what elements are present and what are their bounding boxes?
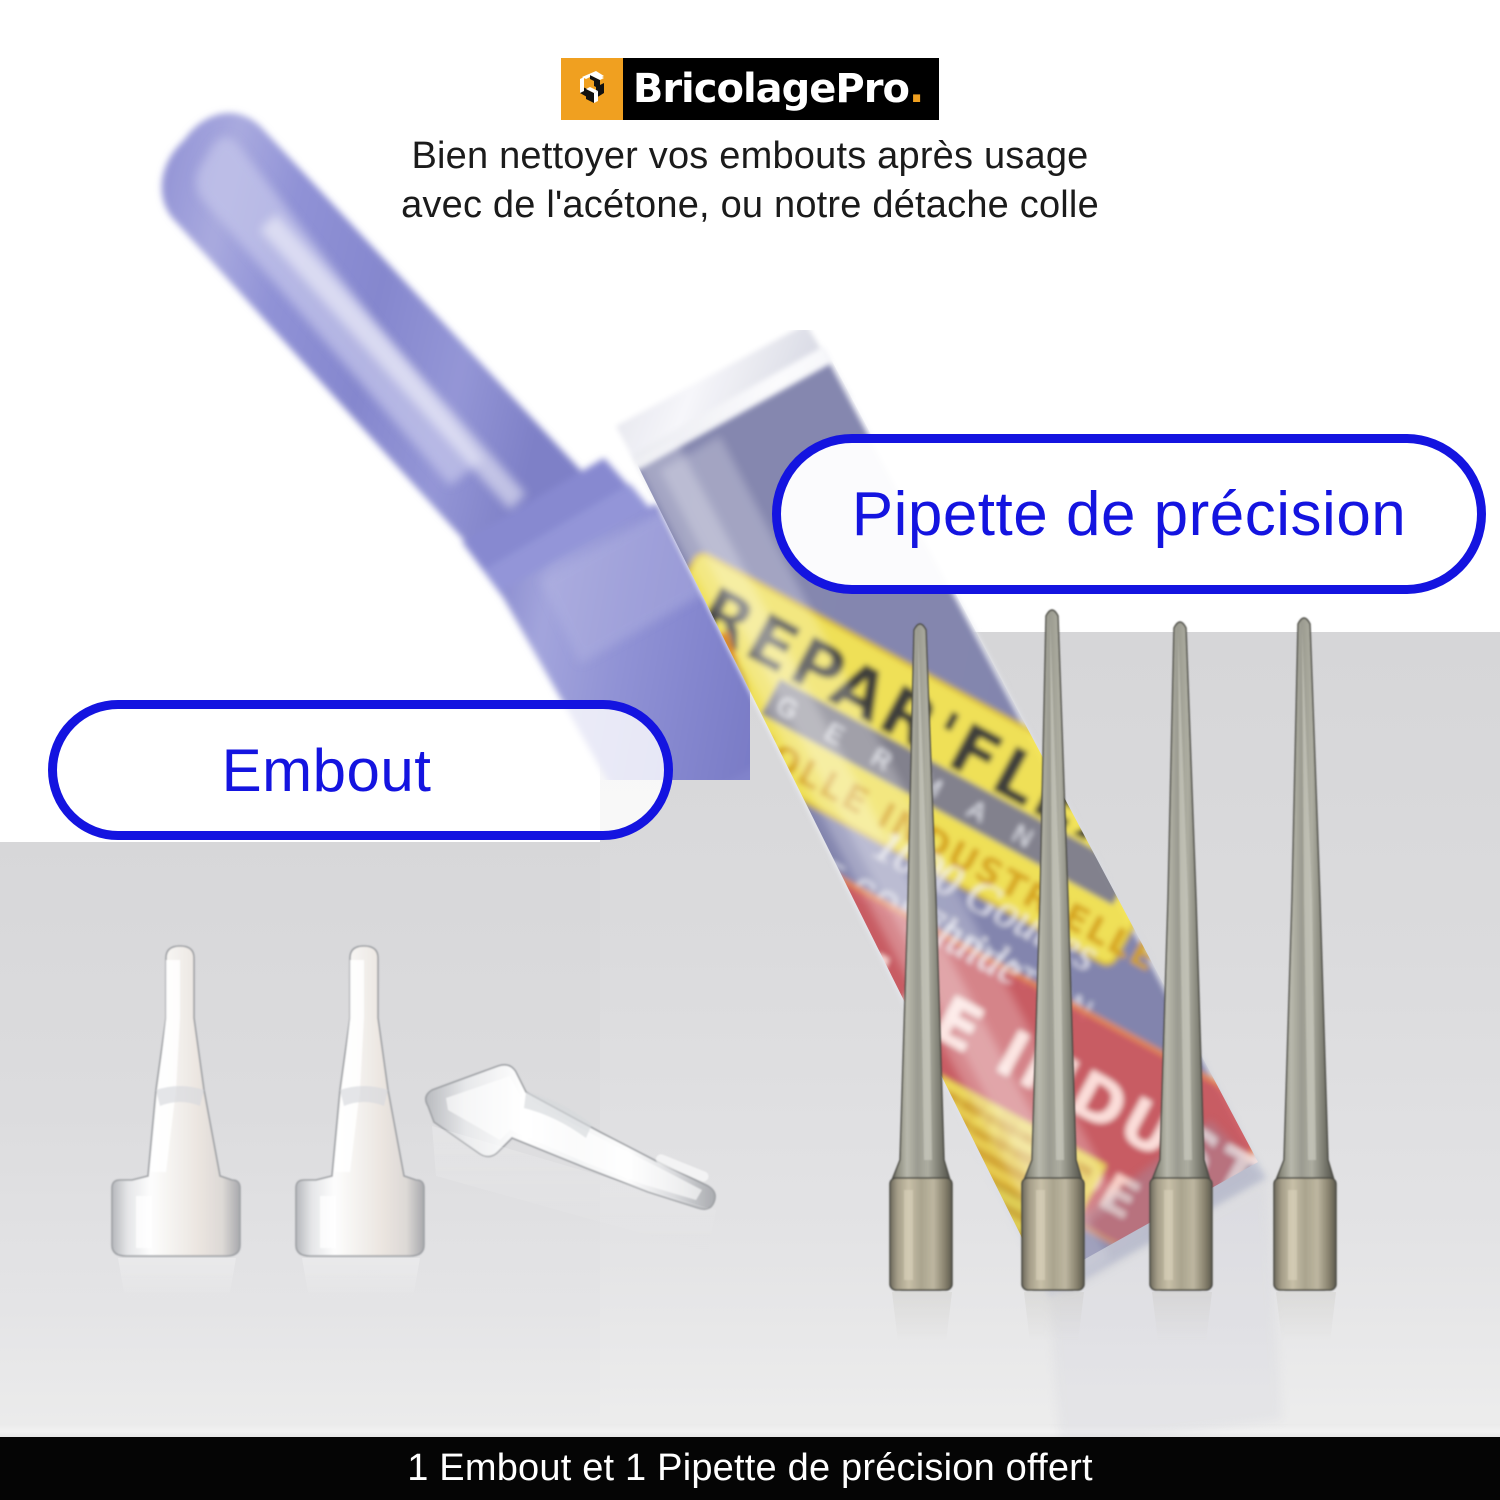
- isometric-blocks-icon: [561, 58, 623, 120]
- clear-nozzle-tips: [40, 900, 800, 1320]
- embout-1: [112, 946, 240, 1256]
- pipette-tip-3: [1150, 622, 1212, 1290]
- callout-embout-label: Embout: [222, 736, 432, 805]
- infographic-canvas: REPAR'FLEX G E R M A N COLLE INDUSTRIELL…: [0, 0, 1500, 1500]
- bottom-banner-text: 1 Embout et 1 Pipette de précision offer…: [407, 1447, 1093, 1490]
- brand-logo: BricolagePro.: [561, 58, 939, 120]
- callout-pipette-label: Pipette de précision: [852, 479, 1407, 550]
- callout-pipette-de-precision: Pipette de précision: [772, 434, 1486, 594]
- brand-name: BricolagePro: [633, 69, 909, 109]
- embout-2: [296, 946, 424, 1256]
- subtitle-line-2: avec de l'acétone, ou notre détache coll…: [0, 181, 1500, 230]
- brand-wordmark: BricolagePro.: [623, 58, 939, 120]
- header: BricolagePro. Bien nettoyer vos embouts …: [0, 0, 1500, 229]
- subtitle-line-1: Bien nettoyer vos embouts après usage: [0, 132, 1500, 181]
- pipette-tip-4: [1274, 618, 1336, 1290]
- pipette-tip-1: [890, 624, 952, 1290]
- precision-pipette-tips: [840, 600, 1360, 1340]
- callout-embout: Embout: [48, 700, 673, 840]
- bottom-banner: 1 Embout et 1 Pipette de précision offer…: [0, 1437, 1500, 1500]
- brand-dot: .: [909, 69, 923, 109]
- pipette-tip-2: [1022, 610, 1084, 1290]
- header-subtitle: Bien nettoyer vos embouts après usage av…: [0, 132, 1500, 229]
